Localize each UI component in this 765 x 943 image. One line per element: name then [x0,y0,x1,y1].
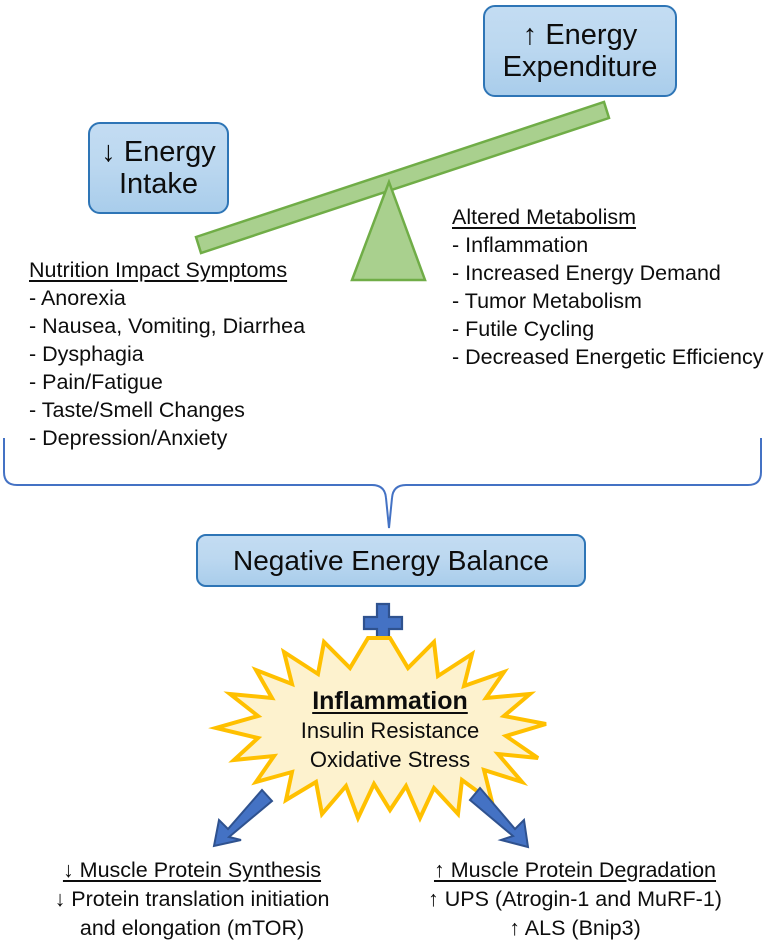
energy-intake-box[interactable]: ↓ Energy Intake [88,122,229,214]
nutrition-impact-symptoms-list: Nutrition Impact Symptoms - Anorexia - N… [29,256,305,452]
arrow-down-left-icon [196,780,276,850]
list-item: - Increased Energy Demand [452,259,764,287]
list-item: - Nausea, Vomiting, Diarrhea [29,312,305,340]
muscle-protein-synthesis-title: ↓ Muscle Protein Synthesis [12,856,372,885]
list-item: - Tumor Metabolism [452,287,764,315]
muscle-protein-synthesis-outcome: ↓ Muscle Protein Synthesis ↓ Protein tra… [12,856,372,943]
converging-brace [0,436,765,536]
energy-expenditure-box[interactable]: ↑ Energy Expenditure [483,5,677,97]
muscle-protein-degradation-outcome: ↑ Muscle Protein Degradation ↑ UPS (Atro… [400,856,750,943]
list-item: - Inflammation [452,231,764,259]
inflammation-line: Insulin Resistance [186,716,594,745]
energy-expenditure-text: ↑ Energy Expenditure [503,19,658,84]
inflammation-line: Oxidative Stress [186,745,594,774]
outcome-line: ↓ Protein translation initiation [12,885,372,914]
list-item: - Pain/Fatigue [29,368,305,396]
outcome-line: and elongation (mTOR) [12,914,372,943]
list-item: - Futile Cycling [452,315,764,343]
nutrition-impact-symptoms-title: Nutrition Impact Symptoms [29,256,305,284]
diagram-canvas: ↑ Energy Expenditure ↓ Energy Intake Nut… [0,0,765,943]
list-item: - Taste/Smell Changes [29,396,305,424]
inflammation-title: Inflammation [186,686,594,716]
altered-metabolism-list: Altered Metabolism - Inflammation - Incr… [452,203,764,371]
energy-expenditure-line2: Expenditure [503,51,658,83]
arrow-down-right-icon [468,780,548,852]
inflammation-text-group: Inflammation Insulin Resistance Oxidativ… [186,686,594,774]
energy-intake-line2: Intake [101,168,215,200]
energy-intake-line1: ↓ Energy [101,136,215,168]
negative-energy-balance-label: Negative Energy Balance [233,545,549,576]
outcome-line: ↑ ALS (Bnip3) [400,914,750,943]
list-item: - Dysphagia [29,340,305,368]
energy-intake-text: ↓ Energy Intake [101,136,215,201]
outcome-line: ↑ UPS (Atrogin-1 and MuRF-1) [400,885,750,914]
list-item: - Decreased Energetic Efficiency [452,343,764,371]
list-item: - Anorexia [29,284,305,312]
energy-expenditure-line1: ↑ Energy [503,19,658,51]
negative-energy-balance-box[interactable]: Negative Energy Balance [196,534,586,587]
altered-metabolism-title: Altered Metabolism [452,203,764,231]
muscle-protein-degradation-title: ↑ Muscle Protein Degradation [400,856,750,885]
